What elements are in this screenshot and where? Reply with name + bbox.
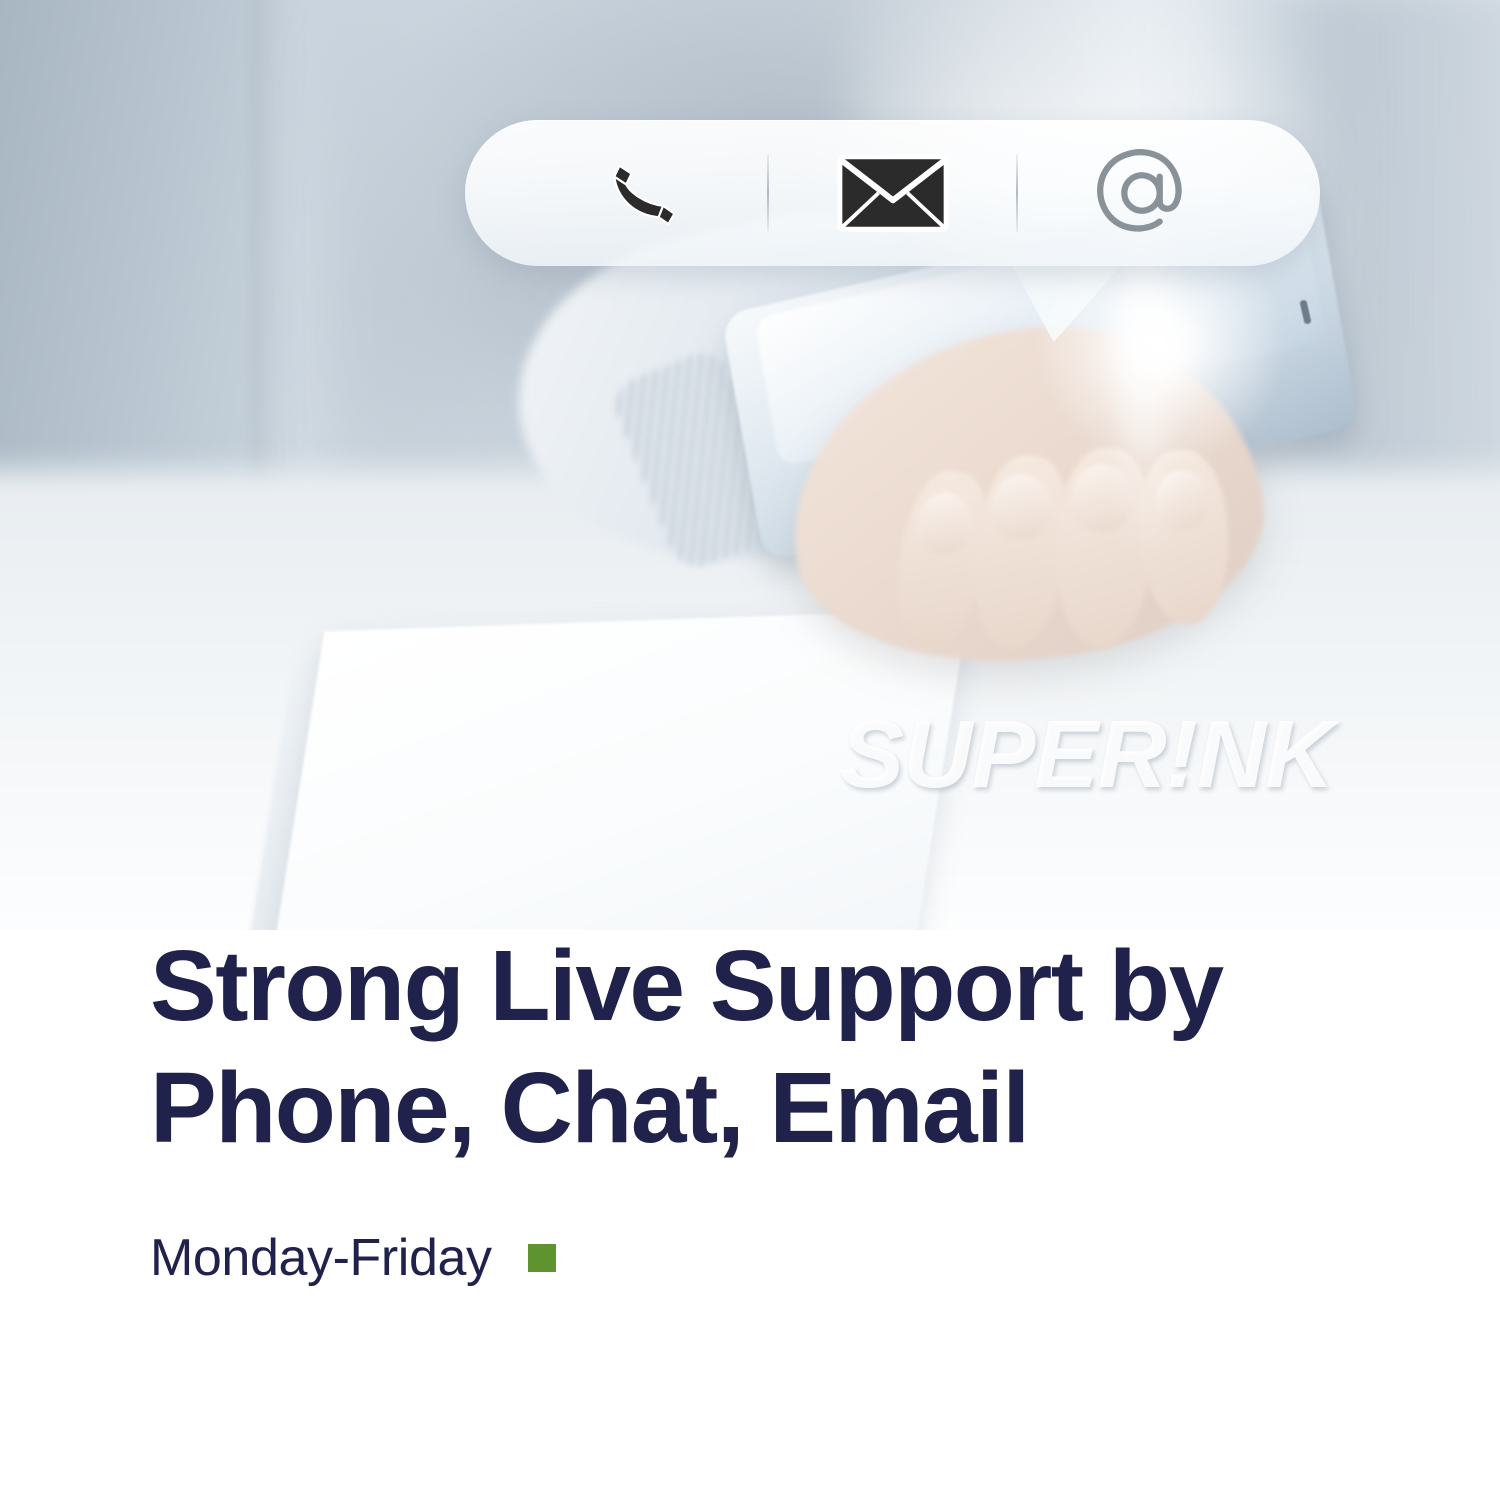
envelope-icon bbox=[834, 152, 952, 234]
page-title: Strong Live Support by Phone, Chat, Emai… bbox=[150, 925, 1330, 1169]
brand-watermark: SUPER!NK bbox=[840, 700, 1333, 810]
contact-option-online[interactable] bbox=[1018, 120, 1266, 266]
contact-option-email[interactable] bbox=[769, 120, 1017, 266]
at-sign-icon bbox=[1093, 144, 1191, 242]
availability-label: Monday-Friday bbox=[150, 1228, 492, 1288]
contact-option-phone[interactable] bbox=[519, 120, 767, 266]
phone-icon bbox=[600, 150, 686, 236]
promo-banner: SUPER!NK bbox=[0, 0, 1500, 1500]
availability-row: Monday-Friday bbox=[150, 1228, 556, 1288]
contact-methods-bar bbox=[465, 120, 1320, 266]
accent-square-icon bbox=[528, 1244, 556, 1272]
